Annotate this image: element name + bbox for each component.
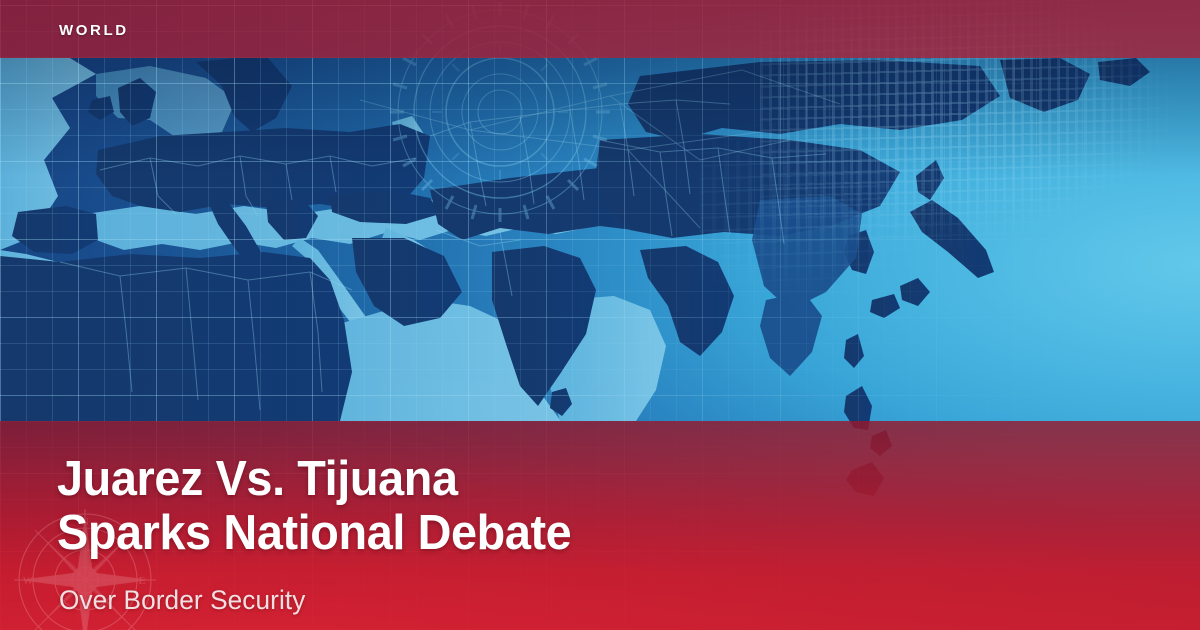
- top-red-band: [0, 0, 1200, 58]
- compass-label-west: W: [23, 575, 34, 587]
- news-graphic-card: N E S W WORLD Juarez Vs. Tijuana Sparks …: [0, 0, 1200, 630]
- headline: Juarez Vs. Tijuana Sparks National Debat…: [57, 452, 1012, 560]
- category-kicker: WORLD: [59, 22, 129, 39]
- subheadline: Over Border Security: [59, 584, 305, 616]
- digital-data-texture-secondary: [700, 114, 1040, 336]
